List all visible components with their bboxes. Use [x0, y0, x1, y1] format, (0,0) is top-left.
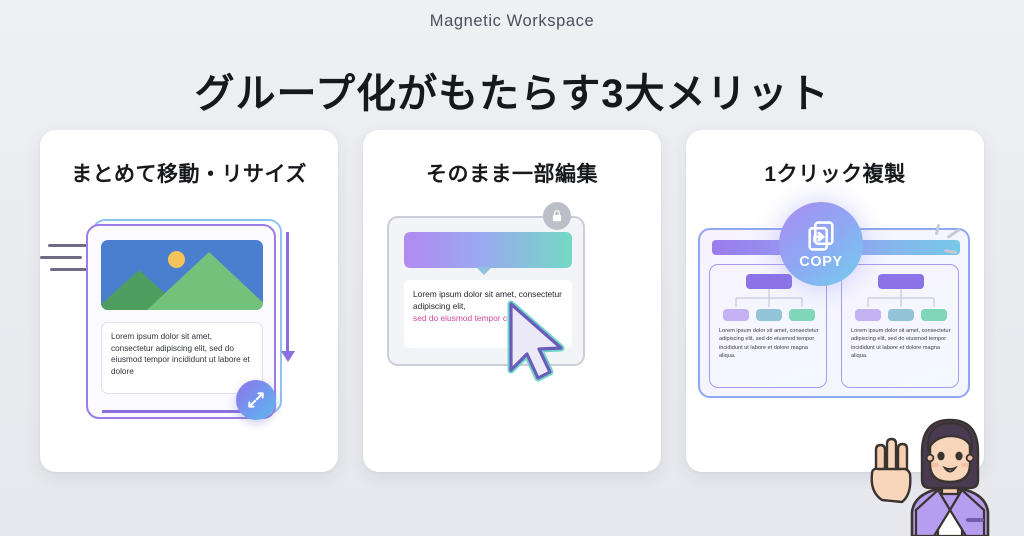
mountain-shape [147, 252, 263, 310]
page-title: グループ化がもたらす3大メリット [0, 69, 1024, 119]
photo-thumbnail [101, 240, 263, 310]
motion-line-icon [40, 256, 82, 259]
chart-node-parent [746, 274, 792, 289]
chart-node-child [888, 309, 914, 321]
benefit-card-move-resize[interactable]: まとめて移動・リサイズ Lorem ipsum dolor sit amet, … [40, 130, 338, 472]
chart-node-child [789, 309, 815, 321]
lock-icon [543, 202, 571, 230]
motion-line-icon [50, 268, 88, 271]
move-resize-illustration: Lorem ipsum dolor sit amet, consectetur … [40, 202, 338, 470]
partial-edit-illustration: Lorem ipsum dolor sit amet, consectetur … [363, 202, 661, 470]
chart-connector-icon [728, 289, 810, 307]
chart-node-child [921, 309, 947, 321]
text-block: Lorem ipsum dolor sit amet, consectetur … [101, 322, 263, 394]
card-title: まとめて移動・リサイズ [40, 158, 338, 188]
eyebrow-text: Magnetic Workspace [0, 12, 1024, 31]
right-arrow-icon [102, 410, 254, 413]
chart-node-child [855, 309, 881, 321]
copy-badge-label: COPY [799, 254, 843, 270]
chart-node-child [756, 309, 782, 321]
gradient-banner [404, 232, 572, 268]
panel-body-text: Lorem ipsum dolor sit amet, consectetur … [719, 327, 819, 361]
card-title: 1クリック複製 [686, 158, 984, 188]
slide-canvas: Magnetic Workspace グループ化がもたらす3大メリット まとめて… [0, 0, 1024, 536]
duplicate-panel-copy: Lorem ipsum dolor sit amet, consectetur … [841, 264, 959, 388]
benefit-card-list: まとめて移動・リサイズ Lorem ipsum dolor sit amet, … [40, 130, 984, 472]
copy-documents-icon [804, 219, 838, 253]
benefit-card-partial-edit[interactable]: そのまま一部編集 Lorem ipsum dolor sit amet, con… [363, 130, 661, 472]
panel-body-text: Lorem ipsum dolor sit amet, consectetur … [851, 327, 951, 361]
resize-handle-icon[interactable] [236, 380, 276, 420]
chart-node-child [723, 309, 749, 321]
down-arrow-icon [286, 232, 289, 352]
card-body-text: Lorem ipsum dolor sit amet, consectetur … [111, 331, 253, 377]
presenter-illustration [850, 406, 1018, 536]
chart-connector-icon [860, 289, 942, 307]
copy-badge[interactable]: COPY [779, 202, 863, 286]
card-title: そのまま一部編集 [363, 158, 661, 188]
chart-node-parent [878, 274, 924, 289]
mouse-cursor-icon [501, 298, 571, 384]
